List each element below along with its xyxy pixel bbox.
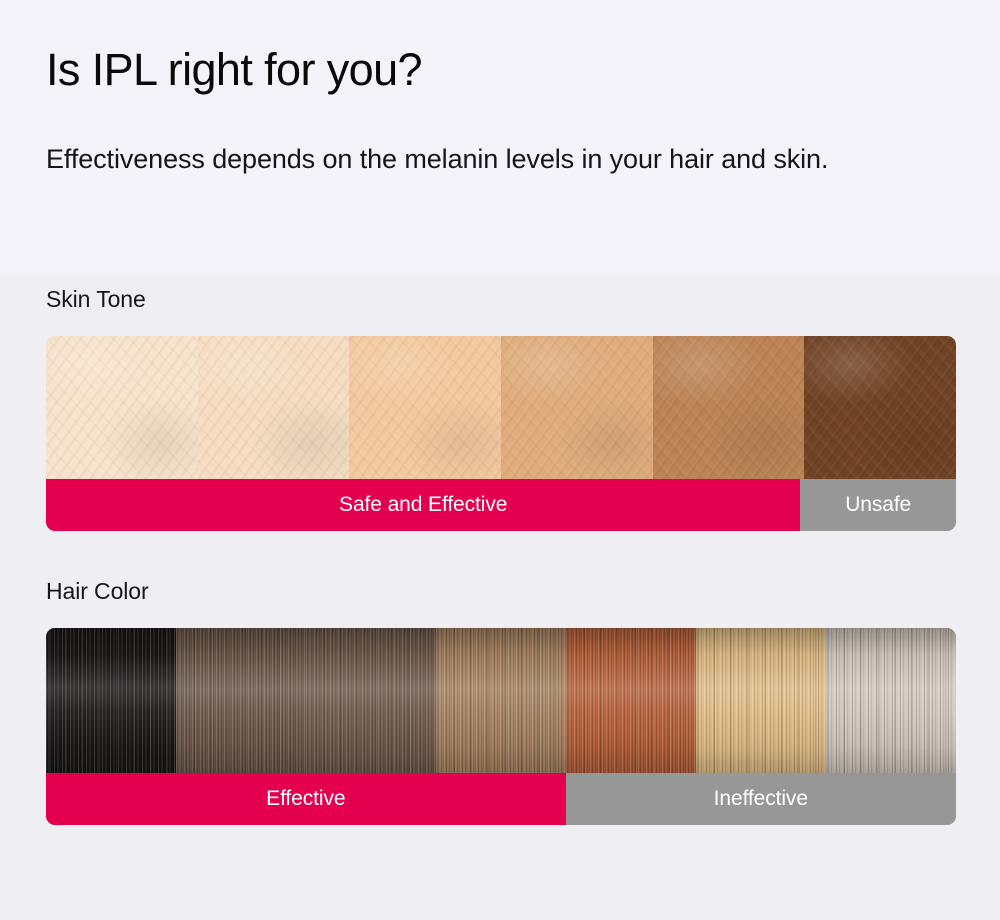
hair-color-swatch-strip [46, 628, 956, 773]
hair-color-7-platinum [826, 628, 956, 773]
skin-tone-verdict-bar: Safe and EffectiveUnsafe [46, 479, 956, 531]
skin-tone-1-very-light [46, 336, 198, 479]
hair-color-3-medium-brown [306, 628, 436, 773]
skin-tone-4-medium [501, 336, 653, 479]
skin-tone-3-light-medium [349, 336, 501, 479]
skin-tone-2-light [198, 336, 350, 479]
skin-tone-6-dark [804, 336, 956, 479]
skin-tone-label: Skin Tone [46, 284, 146, 314]
skin-tone-swatch-strip [46, 336, 956, 479]
skin-tone-5-tan [653, 336, 805, 479]
header-band: Is IPL right for you? Effectiveness depe… [0, 0, 1000, 274]
verdict-segment-unsafe: Unsafe [800, 479, 956, 531]
skin-tone-card: Safe and EffectiveUnsafe [46, 336, 956, 531]
hair-color-label: Hair Color [46, 576, 149, 606]
hair-color-2-dark-brown [176, 628, 306, 773]
page-title: Is IPL right for you? [46, 42, 422, 98]
hair-color-verdict-bar: EffectiveIneffective [46, 773, 956, 825]
hair-color-4-light-brown [436, 628, 566, 773]
verdict-segment-effective: Effective [46, 773, 566, 825]
verdict-segment-ineffective: Ineffective [566, 773, 956, 825]
page-subtitle: Effectiveness depends on the melanin lev… [46, 138, 836, 180]
hair-color-6-blonde [696, 628, 826, 773]
hair-color-1-black [46, 628, 176, 773]
verdict-segment-safe-and-effective: Safe and Effective [46, 479, 800, 531]
hair-color-card: EffectiveIneffective [46, 628, 956, 825]
hair-color-5-red-copper [566, 628, 696, 773]
